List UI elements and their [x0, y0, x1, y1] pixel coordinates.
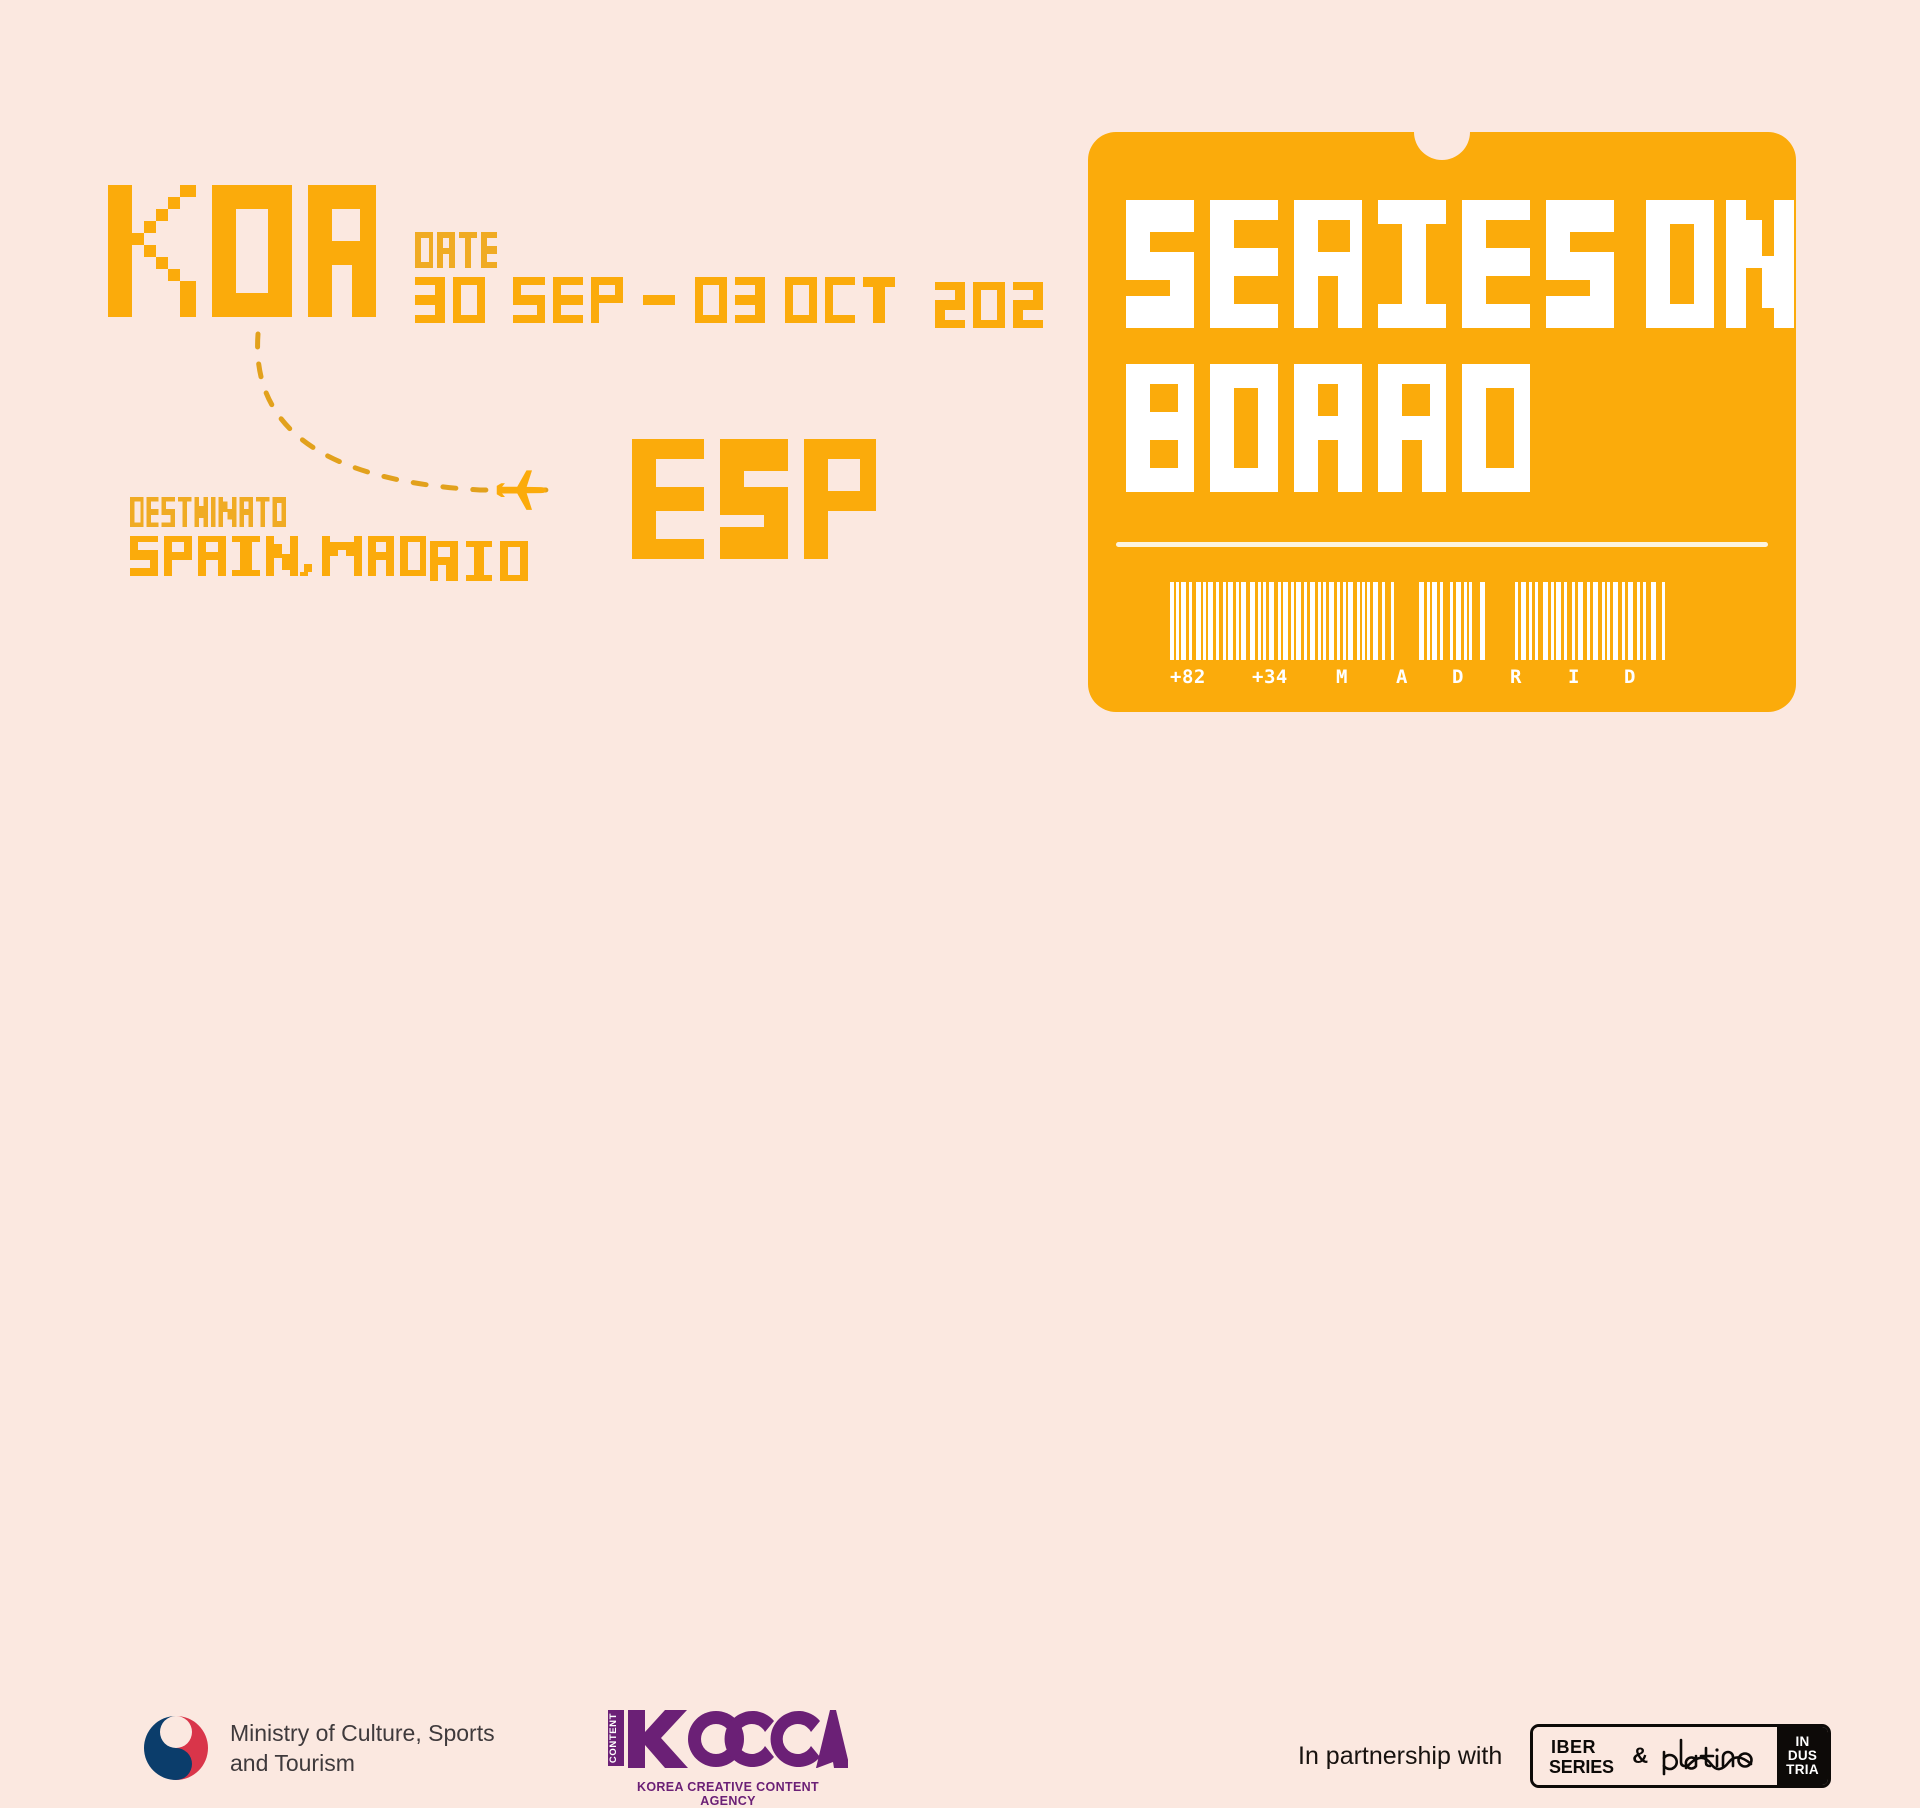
barcode-label-3: A [1396, 666, 1408, 688]
kocca-wordmark-icon: CONTENT [608, 1708, 848, 1770]
industria-line-1: IN [1795, 1735, 1809, 1749]
kocca-subtitle: KOREA CREATIVE CONTENT AGENCY [608, 1780, 848, 1808]
flight-path-dashes [258, 334, 548, 490]
iberseries-logo-icon: IBER SERIES [1549, 1735, 1621, 1777]
card-title [1126, 200, 1726, 497]
barcode-labels: +82 +34 M A D R I D [1170, 666, 1716, 692]
ampersand: & [1632, 1743, 1648, 1769]
card-title-n [1726, 200, 1794, 333]
iber-text: IBER [1551, 1737, 1596, 1757]
boarding-pass-card: +82 +34 M A D R I D [1088, 132, 1796, 712]
partnership-block: In partnership with IBER SERIES & [1298, 1724, 1831, 1788]
svg-text:CONTENT: CONTENT [608, 1713, 619, 1763]
date-year-glyphs [935, 282, 1047, 328]
destination-code [632, 438, 876, 560]
partnership-label: In partnership with [1298, 1742, 1502, 1771]
card-divider [1116, 542, 1768, 547]
date-year [935, 282, 1047, 333]
barcode-label-5: R [1510, 666, 1522, 688]
korea-taegeuk-icon [140, 1712, 212, 1784]
destination-label [130, 497, 542, 532]
destination-value-glyphs [130, 536, 426, 576]
ministry-name: Ministry of Culture, Sports and Tourism [230, 1718, 495, 1779]
barcode-label-6: I [1568, 666, 1580, 688]
card-title-n-glyphs [1726, 200, 1794, 328]
industria-line-3: TRIA [1786, 1763, 1819, 1777]
date-value-glyphs [415, 277, 927, 323]
destination-block [130, 497, 542, 586]
date-block [415, 232, 1047, 333]
industria-line-2: DUS [1788, 1749, 1817, 1763]
destination-label-glyphs [130, 497, 286, 527]
origin-code-glyphs [108, 185, 376, 317]
barcode-bars [1170, 582, 1716, 660]
date-label [415, 232, 1047, 273]
barcode: +82 +34 M A D R I D [1170, 582, 1716, 692]
origin-code [108, 185, 376, 317]
barcode-label-7: D [1624, 666, 1636, 688]
route-panel [0, 0, 1060, 760]
card-content: +82 +34 M A D R I D [1088, 132, 1796, 712]
card-title-glyphs [1126, 200, 1726, 492]
destination-code-glyphs [632, 438, 876, 560]
barcode-label-0: +82 [1170, 666, 1206, 688]
barcode-label-2: M [1336, 666, 1348, 688]
platino-logo-icon [1659, 1734, 1763, 1778]
date-label-glyphs [415, 232, 497, 268]
ministry-logo: Ministry of Culture, Sports and Tourism [140, 1712, 495, 1784]
destination-value-tail-glyphs [430, 541, 542, 581]
poster-canvas: +82 +34 M A D R I D Ministry of Culture,… [0, 0, 1920, 1080]
series-text: SERIES [1549, 1757, 1614, 1777]
partner-badge-left: IBER SERIES & [1533, 1727, 1777, 1785]
partner-badge: IBER SERIES & [1530, 1724, 1831, 1788]
barcode-label-1: +34 [1252, 666, 1288, 688]
kocca-logo: CONTENT KOREA CREATIVE CONTENT AGENCY [608, 1708, 848, 1808]
footer: Ministry of Culture, Sports and Tourism … [0, 840, 1920, 1020]
destination-value-tail [430, 541, 542, 586]
industria-block: IN DUS TRIA [1777, 1727, 1828, 1785]
barcode-bar-strokes [1170, 582, 1716, 660]
barcode-label-4: D [1452, 666, 1464, 688]
